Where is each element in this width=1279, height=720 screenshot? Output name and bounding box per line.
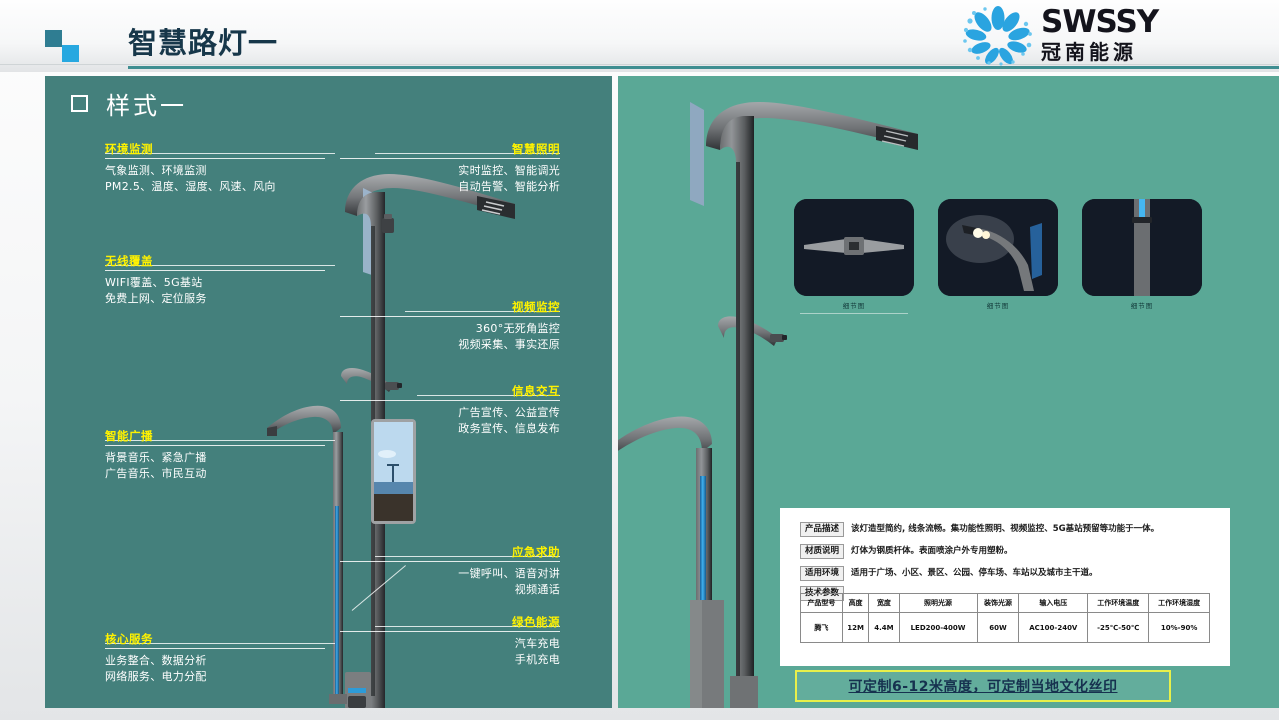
- table-row: 腾飞 12M 4.4M LED200-400W 60W AC100-240V -…: [801, 613, 1210, 643]
- spec-tag: 适用环境: [800, 566, 844, 581]
- customization-banner: 可定制6-12米高度，可定制当地文化丝印: [795, 670, 1171, 702]
- logo-subtitle: 冠南能源: [1041, 40, 1261, 64]
- callout-wireless-coverage: 无线覆盖 WIFI覆盖、5G基站 免费上网、定位服务: [105, 254, 325, 307]
- left-diagram-panel: 样式一: [45, 76, 612, 708]
- td-width: 4.4M: [869, 613, 899, 643]
- brand-logo: SWSSY 冠南能源: [949, 2, 1269, 68]
- callout-divider: [340, 158, 560, 159]
- callout-smart-lighting: 智慧照明 实时监控、智能调光 自动告警、智能分析: [340, 142, 560, 195]
- photo-lamp-head-top-view: [794, 199, 914, 296]
- spec-row-description: 产品描述 该灯造型简约, 线条流畅。集功能性照明、视频监控、5G基站预留等功能于…: [800, 522, 1159, 537]
- td-input-voltage: AC100-240V: [1019, 613, 1088, 643]
- callout-title: 绿色能源: [340, 615, 560, 630]
- th-width: 宽度: [869, 594, 899, 613]
- callout-line-1: WIFI覆盖、5G基站: [105, 275, 325, 291]
- callout-divider: [340, 561, 560, 562]
- td-model: 腾飞: [801, 613, 843, 643]
- callout-line-2: 手机充电: [340, 652, 560, 668]
- callout-line-2: 免费上网、定位服务: [105, 291, 325, 307]
- callout-title: 无线覆盖: [105, 254, 325, 269]
- callout-title: 应急求助: [340, 545, 560, 560]
- callout-line-1: 广告宣传、公益宣传: [340, 405, 560, 421]
- callout-line-1: 业务整合、数据分析: [105, 653, 325, 669]
- callout-line-2: 广告音乐、市民互动: [105, 466, 325, 482]
- callout-core-service: 核心服务 业务整合、数据分析 网络服务、电力分配: [105, 632, 325, 685]
- callout-smart-broadcast: 智能广播 背景音乐、紧急广播 广告音乐、市民互动: [105, 429, 325, 482]
- callout-information-interaction: 信息交互 广告宣传、公益宣传 政务宣传、信息发布: [340, 384, 560, 437]
- page-title: 智慧路灯一: [128, 20, 278, 62]
- slide-root: 智慧路灯一: [0, 0, 1279, 720]
- callout-title: 视频监控: [340, 300, 560, 315]
- callout-environment-monitoring: 环境监测 气象监测、环境监测 PM2.5、温度、湿度、风速、风向: [105, 142, 325, 195]
- slide-header: 智慧路灯一: [0, 0, 1279, 72]
- spec-text: 该灯造型简约, 线条流畅。集功能性照明、视频监控、5G基站预留等功能于一体。: [851, 522, 1159, 535]
- callout-line-1: 汽车充电: [340, 636, 560, 652]
- callout-line-2: 自动告警、智能分析: [340, 179, 560, 195]
- th-input-voltage: 输入电压: [1019, 594, 1088, 613]
- callout-divider: [340, 400, 560, 401]
- th-work-humidity: 工作环境湿度: [1149, 594, 1210, 613]
- callout-green-energy: 绿色能源 汽车充电 手机充电: [340, 615, 560, 668]
- callout-line-1: 背景音乐、紧急广播: [105, 450, 325, 466]
- photo-caption-1: 细节图: [794, 300, 914, 310]
- spec-row-material: 材质说明 灯体为钢质杆体。表面喷涂户外专用塑粉。: [800, 544, 1013, 559]
- callout-divider: [105, 270, 325, 271]
- th-height: 高度: [842, 594, 869, 613]
- callout-line-2: 视频采集、事实还原: [340, 337, 560, 353]
- callout-divider: [340, 316, 560, 317]
- callout-line-2: 视频通话: [340, 582, 560, 598]
- th-model: 产品型号: [801, 594, 843, 613]
- table-header-row: 产品型号 高度 宽度 照明光源 装饰光源 输入电压 工作环境温度 工作环境湿度: [801, 594, 1210, 613]
- tech-params-table: 产品型号 高度 宽度 照明光源 装饰光源 输入电压 工作环境温度 工作环境湿度 …: [800, 593, 1210, 643]
- callout-line-2: PM2.5、温度、湿度、风速、风向: [105, 179, 325, 195]
- spec-tag: 产品描述: [800, 522, 844, 537]
- header-square-blue-icon: [62, 45, 79, 62]
- spec-text: 灯体为钢质杆体。表面喷涂户外专用塑粉。: [851, 544, 1013, 557]
- photo-lamp-arm-lit-view: [938, 199, 1058, 296]
- td-lighting-source: LED200-400W: [899, 613, 977, 643]
- callout-divider: [340, 631, 560, 632]
- callout-title: 智能广播: [105, 429, 325, 444]
- callout-video-surveillance: 视频监控 360°无死角监控 视频采集、事实还原: [340, 300, 560, 353]
- td-work-temp: -25℃-50℃: [1088, 613, 1149, 643]
- spec-card: 产品描述 该灯造型简约, 线条流畅。集功能性照明、视频监控、5G基站预留等功能于…: [780, 508, 1230, 666]
- callout-title: 核心服务: [105, 632, 325, 647]
- customization-banner-text: 可定制6-12米高度，可定制当地文化丝印: [848, 676, 1117, 696]
- td-height: 12M: [842, 613, 869, 643]
- td-work-humidity: 10%-90%: [1149, 613, 1210, 643]
- callout-divider: [105, 648, 325, 649]
- photo-caption-3: 细节图: [1082, 300, 1202, 310]
- water-droplet-flower-logo-icon: [959, 4, 1037, 66]
- callout-title: 智慧照明: [340, 142, 560, 157]
- right-panel-edge: [1234, 76, 1279, 708]
- logo-name: SWSSY: [1041, 6, 1261, 38]
- photo-pole-led-strip-view: [1082, 199, 1202, 296]
- callout-line-1: 360°无死角监控: [340, 321, 560, 337]
- th-decor-source: 装饰光源: [977, 594, 1019, 613]
- callout-line-1: 实时监控、智能调光: [340, 163, 560, 179]
- callout-line-2: 政务宣传、信息发布: [340, 421, 560, 437]
- td-decor-source: 60W: [977, 613, 1019, 643]
- logo-text-block: SWSSY 冠南能源: [1041, 6, 1261, 64]
- th-work-temp: 工作环境温度: [1088, 594, 1149, 613]
- callout-emergency-help: 应急求助 一键呼叫、语音对讲 视频通话: [340, 545, 560, 598]
- callout-line-2: 网络服务、电力分配: [105, 669, 325, 685]
- photo-caption-rule: [800, 313, 908, 314]
- spec-text: 适用于广场、小区、景区、公园、停车场、车站以及城市主干道。: [851, 566, 1098, 579]
- callout-line-1: 一键呼叫、语音对讲: [340, 566, 560, 582]
- spec-row-environment: 适用环境 适用于广场、小区、景区、公园、停车场、车站以及城市主干道。: [800, 566, 1098, 581]
- callout-divider: [105, 158, 325, 159]
- header-square-dark-icon: [45, 30, 62, 47]
- spec-tag: 材质说明: [800, 544, 844, 559]
- th-lighting-source: 照明光源: [899, 594, 977, 613]
- photo-caption-2: 细节图: [938, 300, 1058, 310]
- callout-line-1: 气象监测、环境监测: [105, 163, 325, 179]
- callout-title: 环境监测: [105, 142, 325, 157]
- callout-title: 信息交互: [340, 384, 560, 399]
- callout-divider: [105, 445, 325, 446]
